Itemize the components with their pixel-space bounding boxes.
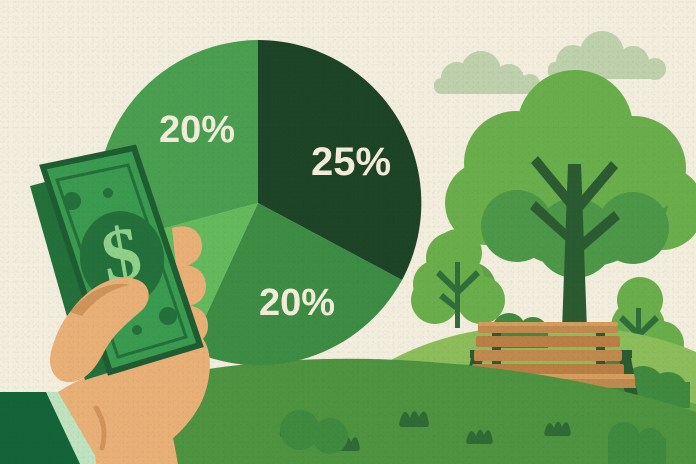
bill-corner-dot [103, 188, 113, 198]
pie-label-20-bottom: 20% [259, 282, 335, 324]
bill-corner-dot [63, 192, 81, 210]
bench-slat [478, 322, 618, 326]
bill-corner-dot [132, 325, 142, 335]
bench-slat [476, 336, 620, 347]
pie-label-20-top: 20% [159, 109, 235, 151]
bill-corner-dot [159, 307, 177, 325]
scene-svg: 20% 25% 20% [0, 0, 696, 464]
illustration-canvas: 20% 25% 20% [0, 0, 696, 464]
bench-slat [474, 350, 622, 361]
pie-label-25: 25% [311, 140, 391, 184]
